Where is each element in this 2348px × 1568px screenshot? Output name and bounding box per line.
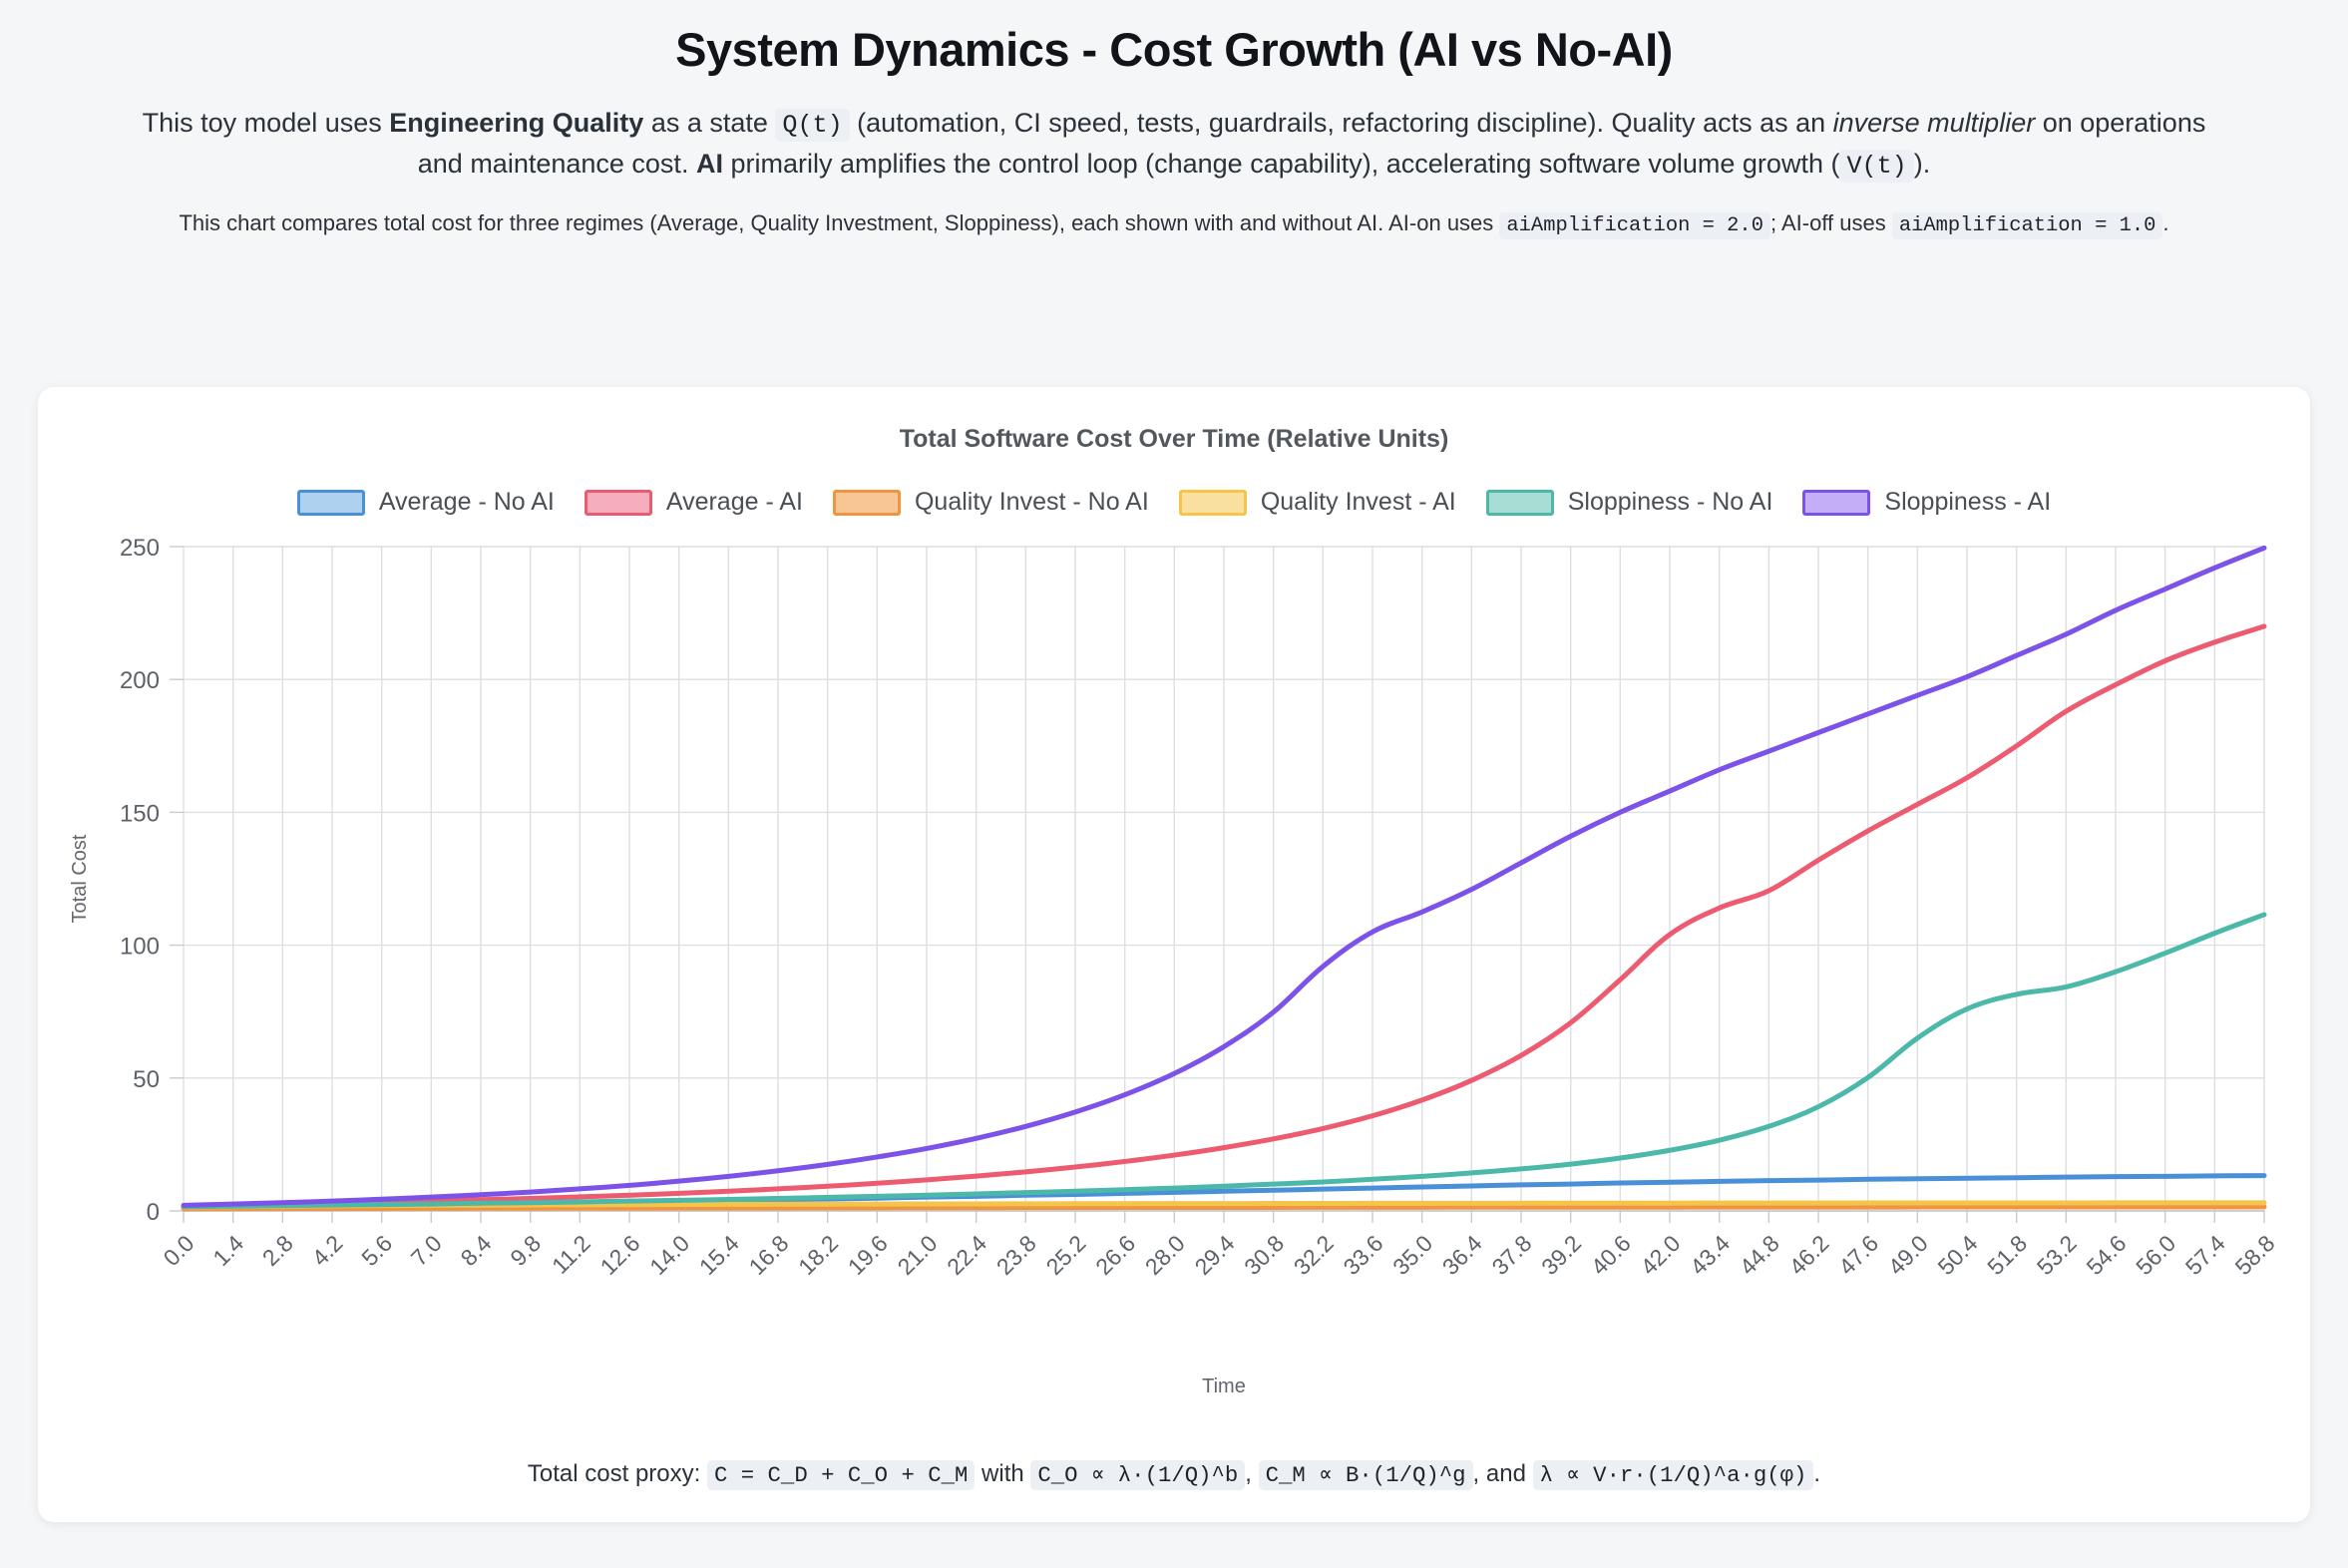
legend-swatch-icon bbox=[1486, 490, 1554, 516]
y-axis-tick-label: 0 bbox=[147, 1199, 160, 1226]
x-axis-tick-label: 29.4 bbox=[1189, 1230, 1239, 1280]
legend-swatch-icon bbox=[297, 490, 365, 516]
x-axis-tick-label: 44.8 bbox=[1735, 1230, 1784, 1280]
subintro-bold-without: without bbox=[1283, 210, 1353, 235]
intro-seg-2: as a state bbox=[643, 108, 775, 138]
intro-code-qt: Q(t) bbox=[775, 109, 849, 142]
subintro-code-ai-off: aiAmplification = 1.0 bbox=[1892, 212, 2163, 239]
legend-item[interactable]: Average - AI bbox=[585, 488, 803, 517]
x-axis-tick-label: 36.4 bbox=[1437, 1230, 1487, 1280]
footer-code-co: C_O ∝ λ·(1/Q)^b bbox=[1030, 1460, 1245, 1490]
legend-item-label: Average - AI bbox=[666, 488, 803, 517]
x-axis-tick-label: 46.2 bbox=[1783, 1230, 1833, 1280]
legend-item-label: Quality Invest - AI bbox=[1261, 488, 1456, 517]
y-axis-tick-label: 50 bbox=[133, 1066, 160, 1093]
intro-seg-3: (automation, CI speed, tests, guardrails… bbox=[850, 108, 1833, 138]
chart-card: Total Software Cost Over Time (Relative … bbox=[38, 387, 2310, 1522]
subintro-seg-3: and bbox=[1234, 210, 1283, 235]
x-axis-tick-label: 30.8 bbox=[1239, 1230, 1289, 1280]
intro-bold-ai: AI bbox=[696, 149, 723, 179]
x-axis-tick-label: 56.0 bbox=[2131, 1230, 2180, 1280]
x-axis-tick-label: 58.8 bbox=[2229, 1230, 2279, 1280]
footer-code-cm: C_M ∝ B·(1/Q)^g bbox=[1259, 1460, 1473, 1490]
x-axis-tick-label: 14.0 bbox=[644, 1230, 694, 1280]
intro-seg-6: ). bbox=[1914, 149, 1931, 179]
y-axis-title: Total Cost bbox=[69, 834, 91, 923]
x-axis-tick-label: 53.2 bbox=[2032, 1230, 2082, 1280]
x-axis-tick-label: 22.4 bbox=[942, 1230, 991, 1280]
legend-swatch-icon bbox=[1802, 490, 1870, 516]
intro-bold-engineering-quality: Engineering Quality bbox=[389, 108, 643, 138]
footer-seg-5: . bbox=[1813, 1460, 1820, 1487]
legend-item[interactable]: Sloppiness - No AI bbox=[1486, 488, 1773, 517]
x-axis-tick-label: 37.8 bbox=[1486, 1230, 1536, 1280]
x-axis-tick-label: 49.0 bbox=[1883, 1230, 1933, 1280]
x-axis-tick-label: 26.6 bbox=[1090, 1230, 1140, 1280]
subintro-seg-1: This chart compares bbox=[179, 210, 383, 235]
legend-item[interactable]: Average - No AI bbox=[297, 488, 555, 517]
legend-item[interactable]: Quality Invest - No AI bbox=[833, 488, 1149, 517]
footer-formula-note: Total cost proxy: C = C_D + C_O + C_M wi… bbox=[38, 1460, 2310, 1488]
intro-paragraph: This toy model uses Engineering Quality … bbox=[102, 104, 2246, 184]
page-root: System Dynamics - Cost Growth (AI vs No-… bbox=[0, 0, 2348, 1568]
line-chart-svg: 0501001502002500.01.42.84.25.67.08.49.81… bbox=[38, 529, 2310, 1406]
page-title: System Dynamics - Cost Growth (AI vs No-… bbox=[0, 22, 2348, 78]
intro-seg-1: This toy model uses bbox=[143, 108, 390, 138]
x-axis-tick-label: 0.0 bbox=[159, 1230, 199, 1271]
x-axis-tick-label: 42.0 bbox=[1635, 1230, 1685, 1280]
legend-swatch-icon bbox=[833, 490, 901, 516]
subintro-seg-4: AI. AI-on uses bbox=[1352, 210, 1499, 235]
legend-item-label: Average - No AI bbox=[379, 488, 555, 517]
legend-item-label: Sloppiness - No AI bbox=[1568, 488, 1773, 517]
legend-swatch-icon bbox=[585, 490, 652, 516]
subintro-bold-total-cost: total cost bbox=[384, 210, 472, 235]
legend-swatch-icon bbox=[1179, 490, 1247, 516]
x-axis-tick-label: 9.8 bbox=[505, 1230, 546, 1271]
y-axis-tick-label: 200 bbox=[120, 667, 160, 694]
x-axis-tick-label: 43.4 bbox=[1685, 1230, 1735, 1280]
intro-code-vt: V(t) bbox=[1839, 150, 1913, 183]
x-axis-tick-label: 18.2 bbox=[793, 1230, 843, 1280]
x-axis-tick-label: 19.6 bbox=[843, 1230, 893, 1280]
y-axis-tick-label: 100 bbox=[120, 934, 160, 961]
x-axis-tick-label: 1.4 bbox=[207, 1230, 248, 1271]
x-axis-tick-label: 35.0 bbox=[1387, 1230, 1437, 1280]
subintro-seg-5: ; AI-off uses bbox=[1770, 210, 1892, 235]
footer-seg-4: , and bbox=[1473, 1460, 1533, 1487]
x-axis-tick-label: 50.4 bbox=[1932, 1230, 1982, 1280]
x-axis-title: Time bbox=[1202, 1375, 1246, 1397]
x-axis-tick-label: 32.2 bbox=[1289, 1230, 1339, 1280]
x-axis-tick-label: 15.4 bbox=[694, 1230, 744, 1280]
x-axis-tick-label: 51.8 bbox=[1982, 1230, 2032, 1280]
x-axis-tick-label: 12.6 bbox=[594, 1230, 644, 1280]
subintro-bold-with: with bbox=[1195, 210, 1234, 235]
plot-area: 0501001502002500.01.42.84.25.67.08.49.81… bbox=[38, 529, 2310, 1406]
x-axis-tick-label: 40.6 bbox=[1586, 1230, 1636, 1280]
footer-seg-2: with bbox=[975, 1460, 1030, 1487]
y-axis-tick-label: 250 bbox=[120, 535, 160, 562]
x-axis-tick-label: 5.6 bbox=[356, 1230, 397, 1271]
subintro-seg-6: . bbox=[2162, 210, 2168, 235]
footer-code-lambda: λ ∝ V·r·(1/Q)^a·g(φ) bbox=[1533, 1460, 1814, 1490]
subintro-paragraph: This chart compares total cost for three… bbox=[72, 206, 2276, 242]
x-axis-tick-label: 11.2 bbox=[547, 1230, 595, 1279]
x-axis-tick-label: 47.6 bbox=[1833, 1230, 1883, 1280]
legend-item[interactable]: Sloppiness - AI bbox=[1802, 488, 2051, 517]
intro-italic-inverse-multiplier: inverse multiplier bbox=[1833, 108, 2036, 138]
x-axis-tick-label: 57.4 bbox=[2180, 1230, 2230, 1280]
x-axis-tick-label: 25.2 bbox=[1040, 1230, 1090, 1280]
chart-title: Total Software Cost Over Time (Relative … bbox=[38, 425, 2310, 454]
x-axis-tick-label: 8.4 bbox=[456, 1230, 497, 1271]
footer-code-total-cost: C = C_D + C_O + C_M bbox=[707, 1460, 975, 1490]
x-axis-tick-label: 4.2 bbox=[307, 1230, 348, 1271]
x-axis-tick-label: 16.8 bbox=[743, 1230, 793, 1280]
legend-item-label: Quality Invest - No AI bbox=[915, 488, 1149, 517]
legend-item-label: Sloppiness - AI bbox=[1884, 488, 2051, 517]
footer-seg-3: , bbox=[1245, 1460, 1258, 1487]
y-axis-tick-label: 150 bbox=[120, 800, 160, 827]
x-axis-tick-label: 54.6 bbox=[2081, 1230, 2131, 1280]
footer-seg-1: Total cost proxy: bbox=[528, 1460, 707, 1487]
subintro-code-ai-on: aiAmplification = 2.0 bbox=[1499, 212, 1770, 239]
x-axis-tick-label: 2.8 bbox=[257, 1230, 298, 1271]
x-axis-tick-label: 28.0 bbox=[1140, 1230, 1190, 1280]
chart-legend: Average - No AIAverage - AIQuality Inves… bbox=[38, 488, 2310, 517]
x-axis-tick-label: 7.0 bbox=[406, 1230, 447, 1271]
x-axis-tick-label: 21.0 bbox=[892, 1230, 942, 1280]
legend-item[interactable]: Quality Invest - AI bbox=[1179, 488, 1456, 517]
intro-seg-5: primarily amplifies the control loop (ch… bbox=[723, 149, 1840, 179]
x-axis-tick-label: 33.6 bbox=[1338, 1230, 1387, 1280]
x-axis-tick-label: 23.8 bbox=[991, 1230, 1041, 1280]
subintro-seg-2: for three regimes (Average, Quality Inve… bbox=[472, 210, 1195, 235]
x-axis-tick-label: 39.2 bbox=[1536, 1230, 1586, 1280]
